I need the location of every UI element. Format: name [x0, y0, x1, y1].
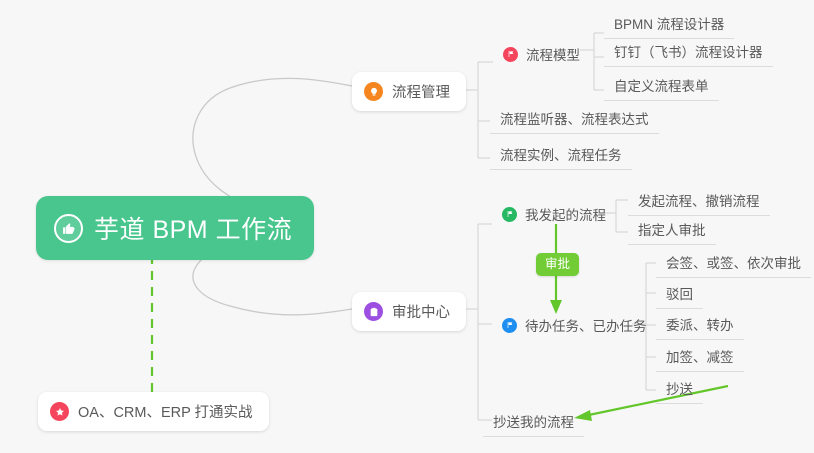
node-label-cc-to-me: 抄送我的流程	[493, 411, 574, 431]
root-label: 芋道 BPM 工作流	[94, 210, 292, 246]
callout-node-integration[interactable]: OA、CRM、ERP 打通实战	[38, 392, 269, 431]
root-node[interactable]: 芋道 BPM 工作流	[36, 196, 314, 260]
flag-icon	[502, 207, 517, 222]
lightbulb-icon	[364, 82, 383, 101]
node-my-initiated-process[interactable]: 我发起的流程	[492, 201, 616, 229]
node-listener-expression[interactable]: 流程监听器、流程表达式	[490, 105, 659, 134]
node-label-countersign: 会签、或签、依次审批	[666, 252, 801, 272]
branch-node-process-management[interactable]: 流程管理	[352, 72, 466, 111]
node-dingtalk-designer[interactable]: 钉钉（飞书）流程设计器	[604, 38, 773, 67]
node-label-listener-expression: 流程监听器、流程表达式	[500, 108, 649, 128]
node-cc-to-me[interactable]: 抄送我的流程	[483, 408, 584, 437]
node-label-delegate-transfer: 委派、转办	[666, 314, 734, 334]
node-label-todo-done-tasks: 待办任务、已办任务	[525, 315, 647, 335]
approval-badge[interactable]: 审批	[536, 253, 579, 276]
node-label-dingtalk-designer: 钉钉（飞书）流程设计器	[614, 41, 763, 61]
node-label-custom-form: 自定义流程表单	[614, 75, 709, 95]
node-label-process-model: 流程模型	[526, 44, 580, 64]
wire-root-to-process	[193, 78, 352, 213]
node-instance-task[interactable]: 流程实例、流程任务	[490, 141, 632, 170]
dashed-arrow-callout-to-root	[147, 238, 157, 392]
flag-icon	[503, 47, 518, 62]
node-add-remove-sign[interactable]: 加签、减签	[656, 343, 744, 372]
mindmap-canvas: 芋道 BPM 工作流 流程管理 流程模型 BPMN 流程设计器 钉钉（飞书）流程…	[0, 0, 814, 453]
node-assignee-approval[interactable]: 指定人审批	[628, 216, 716, 245]
node-todo-done-tasks[interactable]: 待办任务、已办任务	[492, 312, 657, 340]
branch-node-approval-center[interactable]: 审批中心	[352, 292, 466, 331]
clipboard-icon	[364, 302, 383, 321]
star-icon	[50, 402, 69, 421]
node-process-model[interactable]: 流程模型	[493, 41, 590, 69]
node-label-reject: 驳回	[666, 283, 693, 303]
branch-label-approval-center: 审批中心	[392, 301, 450, 322]
node-label-bpmn-designer: BPMN 流程设计器	[614, 13, 724, 33]
node-label-assignee-approval: 指定人审批	[638, 219, 706, 239]
approval-badge-label: 审批	[545, 257, 570, 271]
callout-label: OA、CRM、ERP 打通实战	[78, 401, 253, 422]
node-countersign[interactable]: 会签、或签、依次审批	[656, 249, 811, 278]
arrow-cc-to-cc-mine	[574, 386, 728, 421]
node-label-cc: 抄送	[666, 378, 693, 398]
node-label-start-cancel-process: 发起流程、撤销流程	[638, 190, 760, 210]
node-label-instance-task: 流程实例、流程任务	[500, 144, 622, 164]
node-label-add-remove-sign: 加签、减签	[666, 346, 734, 366]
node-delegate-transfer[interactable]: 委派、转办	[656, 311, 744, 340]
node-custom-form[interactable]: 自定义流程表单	[604, 72, 719, 101]
node-cc[interactable]: 抄送	[656, 375, 703, 404]
node-reject[interactable]: 驳回	[656, 280, 703, 309]
node-bpmn-designer[interactable]: BPMN 流程设计器	[604, 10, 734, 39]
thumbs-up-icon	[54, 214, 83, 243]
flag-icon	[502, 318, 517, 333]
node-label-my-initiated-process: 我发起的流程	[525, 204, 606, 224]
node-start-cancel-process[interactable]: 发起流程、撤销流程	[628, 187, 770, 216]
branch-label-process-management: 流程管理	[392, 81, 450, 102]
